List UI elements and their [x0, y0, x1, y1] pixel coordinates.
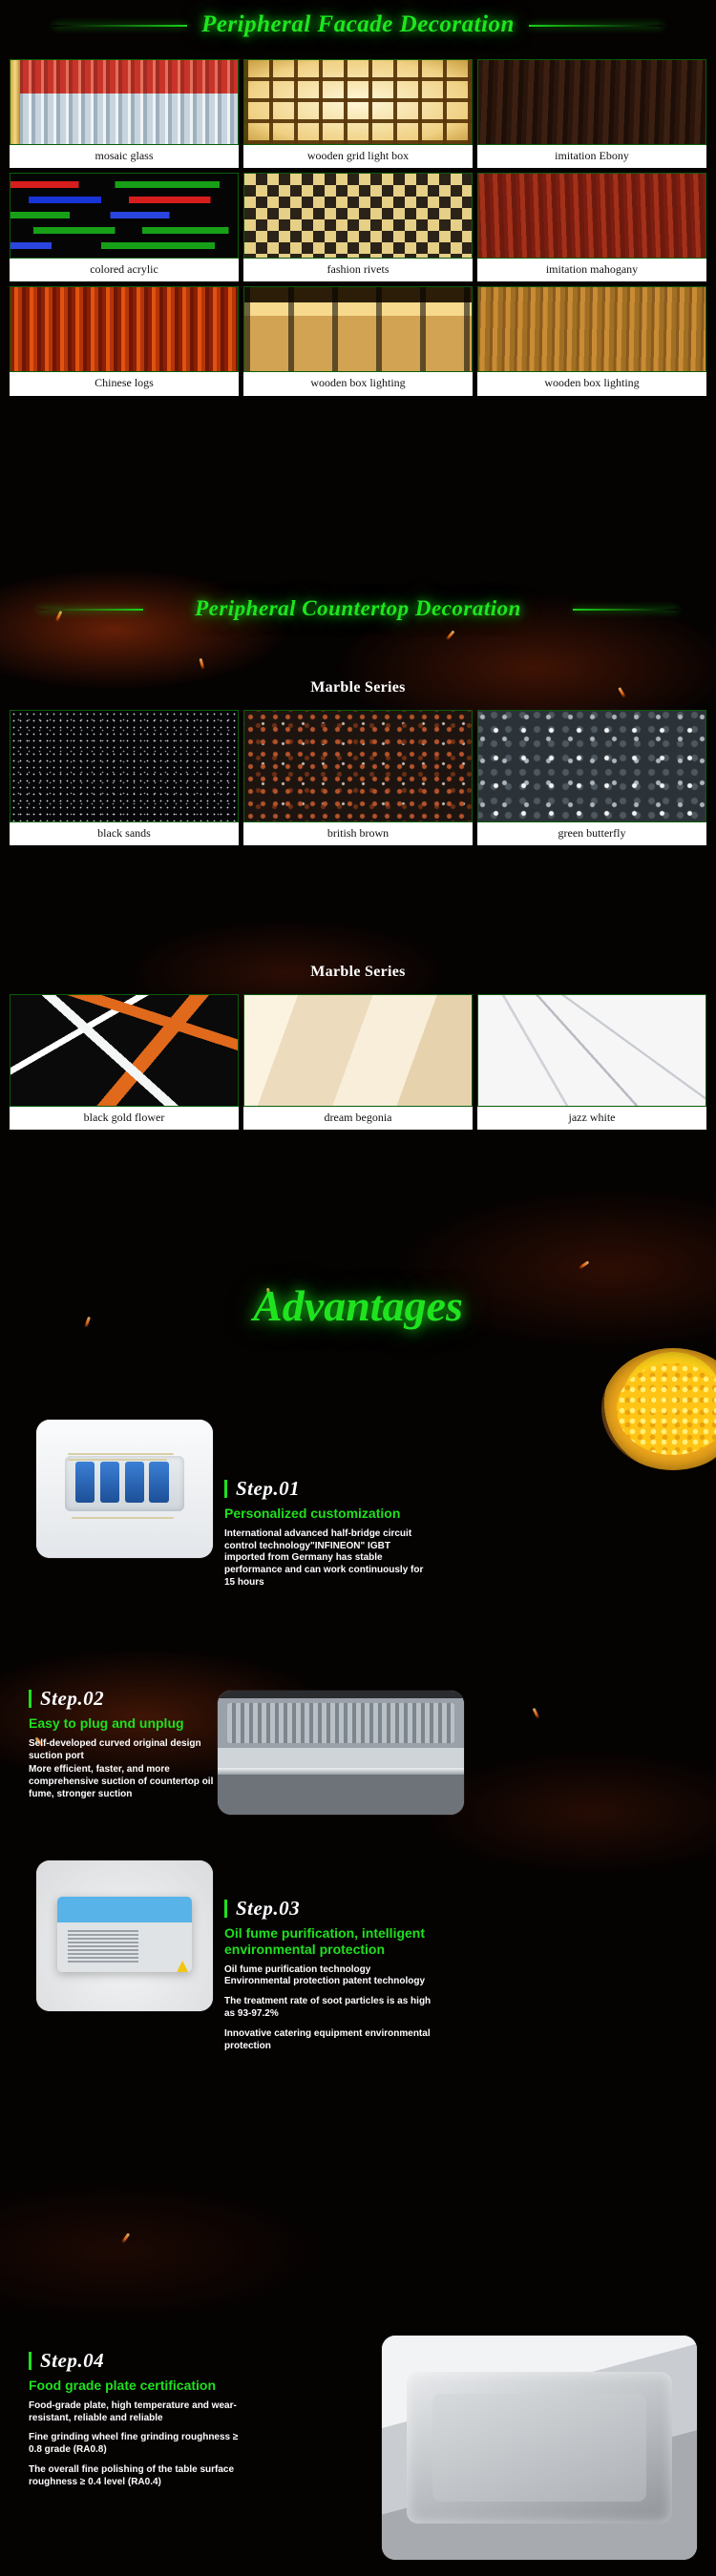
step-04-photo — [382, 2336, 697, 2560]
step-03-body: Oil fume purification technology Environ… — [224, 1964, 439, 2053]
swatch-label: dream begonia — [243, 1107, 473, 1130]
swatch-image-dream-begonia — [243, 994, 473, 1107]
spark — [121, 2233, 130, 2244]
swatch-image-chinese-logs — [10, 286, 239, 372]
spark — [199, 658, 204, 670]
swatch-image-black-gold-flower — [10, 994, 239, 1107]
step-paragraph: Food-grade plate, high temperature and w… — [29, 2400, 246, 2425]
step-02-photo — [218, 1691, 464, 1815]
swatch-label: imitation mahogany — [477, 259, 706, 281]
swatch-card[interactable]: wooden box lighting — [477, 286, 706, 395]
swatch-card[interactable]: british brown — [243, 710, 473, 845]
swatch-label: mosaic glass — [10, 145, 239, 168]
step-paragraph: Self-developed curved original design su… — [29, 1738, 229, 1763]
swatch-image-colored-acrylic — [10, 173, 239, 259]
step-paragraph: Innovative catering equipment environmen… — [224, 2028, 439, 2053]
step-01-body: International advanced half-bridge circu… — [224, 1528, 430, 1589]
swatch-label: green butterfly — [477, 822, 706, 845]
step-01-photo — [36, 1420, 213, 1558]
spark — [579, 1260, 590, 1269]
swatch-image-british-brown — [243, 710, 473, 822]
connector-wire — [68, 1453, 174, 1455]
swatch-image-green-butterfly — [477, 710, 706, 822]
swatch-card[interactable]: black gold flower — [10, 994, 239, 1130]
facade-section-title: Peripheral Facade Decoration — [0, 8, 716, 42]
swatch-card[interactable]: colored acrylic — [10, 173, 239, 281]
swatch-card[interactable]: fashion rivets — [243, 173, 473, 281]
plate-inner — [432, 2394, 646, 2502]
swatch-image-jazz-white — [477, 994, 706, 1107]
swatch-card[interactable]: mosaic glass — [10, 59, 239, 168]
step-04-tag: Step.04 — [29, 2349, 246, 2373]
swatch-card[interactable]: wooden box lighting — [243, 286, 473, 395]
swatch-label: imitation Ebony — [477, 145, 706, 168]
swatch-card[interactable]: imitation mahogany — [477, 173, 706, 281]
step-01-tag: Step.01 — [224, 1477, 430, 1501]
facade-grid: mosaic glass wooden grid light box imita… — [0, 59, 716, 396]
swatch-label: british brown — [243, 822, 473, 845]
connector-blue — [149, 1462, 168, 1504]
swatch-card[interactable]: dream begonia — [243, 994, 473, 1130]
connector-blue — [100, 1462, 119, 1504]
swatch-card[interactable]: Chinese logs — [10, 286, 239, 395]
marble-series-heading: Marble Series — [0, 679, 716, 696]
swatch-card[interactable]: black sands — [10, 710, 239, 845]
connector-blue — [125, 1462, 144, 1504]
step-accent-bar — [29, 1690, 32, 1708]
title-rule-left — [38, 609, 143, 611]
swatch-image-imitation-ebony — [477, 59, 706, 145]
swatch-label: wooden box lighting — [477, 372, 706, 395]
swatch-image-fashion-rivets — [243, 173, 473, 259]
purifier-image — [36, 1860, 213, 2011]
step-paragraph: More efficient, faster, and more compreh… — [29, 1764, 229, 1800]
swatch-image-imitation-mahogany — [477, 173, 706, 259]
advantages-title: Advantages — [0, 1280, 716, 1331]
step-02-tag: Step.02 — [29, 1687, 229, 1711]
step-03-heading: Oil fume purification, intelligent envir… — [224, 1925, 439, 1958]
step-paragraph: International advanced half-bridge circu… — [224, 1528, 430, 1589]
step-number: Step.03 — [236, 1897, 300, 1921]
title-rule-right — [529, 25, 663, 27]
step-04-body: Food-grade plate, high temperature and w… — [29, 2400, 246, 2489]
marble-grid-1: black sands british brown green butterfl… — [0, 710, 716, 845]
swatch-image-wooden-grid-light-box — [243, 59, 473, 145]
step-number: Step.04 — [40, 2349, 104, 2373]
swatch-card[interactable]: jazz white — [477, 994, 706, 1130]
swatch-label: black sands — [10, 822, 239, 845]
swatch-label: wooden box lighting — [243, 372, 473, 395]
food-grade-plate-image — [382, 2336, 697, 2560]
step-number: Step.02 — [40, 1687, 104, 1711]
marble-group-1: Marble Series black sands british brown … — [0, 679, 716, 845]
swatch-label: jazz white — [477, 1107, 706, 1130]
swatch-label: Chinese logs — [10, 372, 239, 395]
connector-blue — [75, 1462, 95, 1504]
step-03-tag: Step.03 — [224, 1897, 439, 1921]
spice-bowl-image — [601, 1348, 716, 1470]
swatch-card[interactable]: green butterfly — [477, 710, 706, 845]
step-04-text: Step.04 Food grade plate certification F… — [29, 2349, 246, 2489]
range-hood-image — [218, 1691, 464, 1815]
step-04-heading: Food grade plate certification — [29, 2378, 246, 2394]
step-accent-bar — [224, 1900, 227, 1918]
step-paragraph: Fine grinding wheel fine grinding roughn… — [29, 2432, 246, 2457]
countertop-section-title: Peripheral Countertop Decoration — [0, 592, 716, 626]
swatch-card[interactable]: wooden grid light box — [243, 59, 473, 168]
countertop-title-text: Peripheral Countertop Decoration — [195, 596, 521, 620]
connector-wire — [68, 1459, 167, 1461]
title-rule-left — [53, 25, 187, 27]
step-paragraph: The treatment rate of soot particles is … — [224, 1996, 439, 2021]
spark — [445, 630, 454, 640]
step-paragraph: Oil fume purification technology Environ… — [224, 1964, 439, 1989]
purifier-vent — [68, 1930, 138, 1963]
step-number: Step.01 — [236, 1477, 300, 1501]
swatch-label: fashion rivets — [243, 259, 473, 281]
swatch-label: colored acrylic — [10, 259, 239, 281]
step-accent-bar — [29, 2352, 32, 2370]
page-root: Peripheral Facade Decoration mosaic glas… — [0, 0, 716, 2576]
step-03-photo — [36, 1860, 213, 2011]
step-02-text: Step.02 Easy to plug and unplug Self-dev… — [29, 1687, 229, 1801]
step-paragraph: The overall fine polishing of the table … — [29, 2464, 246, 2489]
marble-grid-2: black gold flower dream begonia jazz whi… — [0, 994, 716, 1130]
swatch-image-wooden-box-lighting-2 — [477, 286, 706, 372]
hood-edge — [218, 1768, 464, 1776]
connector-wire — [72, 1517, 174, 1519]
swatch-image-black-sands — [10, 710, 239, 822]
swatch-image-wooden-box-lighting-1 — [243, 286, 473, 372]
marble-series-heading: Marble Series — [0, 964, 716, 981]
hood-slats — [227, 1703, 453, 1743]
step-accent-bar — [224, 1480, 227, 1498]
spark — [533, 1708, 540, 1719]
step-01-heading: Personalized customization — [224, 1506, 430, 1522]
step-02-body: Self-developed curved original design su… — [29, 1738, 229, 1801]
swatch-card[interactable]: imitation Ebony — [477, 59, 706, 168]
swatch-label: wooden grid light box — [243, 145, 473, 168]
step-03-text: Step.03 Oil fume purification, intellige… — [224, 1897, 439, 2052]
swatch-label: black gold flower — [10, 1107, 239, 1130]
marble-group-2: Marble Series black gold flower dream be… — [0, 964, 716, 1130]
facade-title-text: Peripheral Facade Decoration — [201, 11, 515, 37]
title-rule-right — [573, 609, 678, 611]
connector-block-image — [36, 1420, 213, 1558]
step-01-text: Step.01 Personalized customization Inter… — [224, 1477, 430, 1589]
swatch-image-mosaic-glass — [10, 59, 239, 145]
step-02-heading: Easy to plug and unplug — [29, 1715, 229, 1732]
